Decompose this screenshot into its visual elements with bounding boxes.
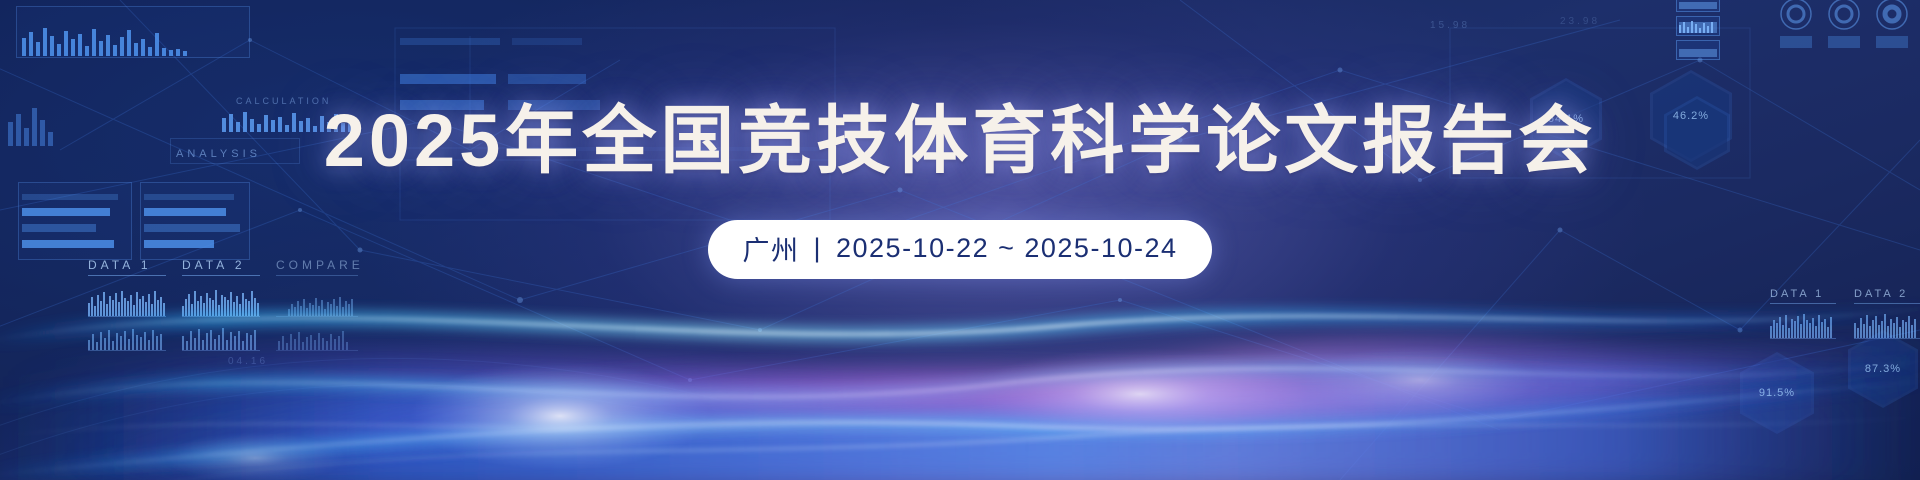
event-city: 广州 (742, 229, 799, 268)
banner-content: 2025年全国竞技体育科学论文报告会 广州 | 2025-10-22 ~ 202… (0, 0, 1920, 480)
event-meta-pill: 广州 | 2025-10-22 ~ 2025-10-24 (708, 220, 1211, 279)
meta-separator: | (813, 233, 822, 264)
conference-banner: ANALYSIS (0, 0, 1920, 480)
event-date-range: 2025-10-22 ~ 2025-10-24 (836, 233, 1178, 264)
page-title: 2025年全国竞技体育科学论文报告会 (324, 104, 1597, 178)
